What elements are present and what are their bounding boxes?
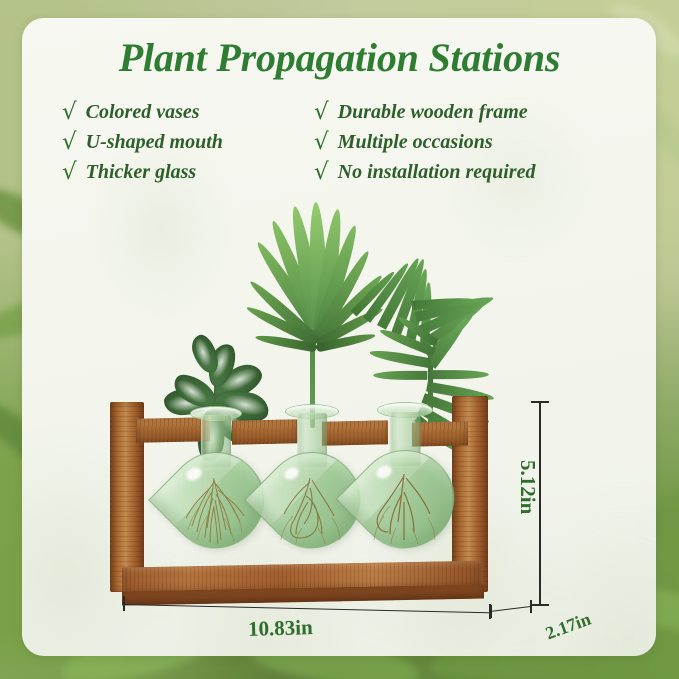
- check-icon: √: [314, 101, 329, 124]
- feature-label: Durable wooden frame: [338, 102, 528, 123]
- check-icon: √: [62, 131, 77, 154]
- feature-column-right: √ Durable wooden frame √ Multiple occasi…: [314, 100, 614, 183]
- dimension-tick-depth-left: [490, 605, 492, 618]
- plant-roots: [340, 402, 470, 574]
- check-icon: √: [314, 131, 329, 154]
- check-icon: √: [62, 161, 77, 184]
- glass-vase-3: [340, 402, 470, 574]
- palm-leaflet: [431, 370, 489, 379]
- dimension-label-width: 10.83in: [248, 615, 313, 642]
- check-icon: √: [314, 161, 329, 184]
- feature-label: U-shaped mouth: [86, 132, 223, 153]
- feature-item-u-shaped-mouth: √ U-shaped mouth: [62, 130, 290, 153]
- feature-label: No installation required: [338, 162, 536, 183]
- dimension-label-height: 5.12in: [515, 460, 540, 514]
- feature-label: Multiple occasions: [338, 132, 493, 153]
- feature-column-left: √ Colored vases √ U-shaped mouth √ Thick…: [62, 100, 290, 183]
- dimension-tick-height-bottom: [531, 604, 549, 606]
- dimension-tick-width-left: [123, 596, 125, 611]
- check-icon: √: [62, 101, 77, 124]
- feature-item-multiple-occasions: √ Multiple occasions: [314, 130, 614, 153]
- feature-item-colored-vases: √ Colored vases: [62, 100, 290, 123]
- feature-label: Colored vases: [86, 102, 200, 123]
- feature-item-no-installation-required: √ No installation required: [314, 160, 614, 183]
- dimension-tick-depth-right: [530, 600, 532, 613]
- feature-item-thicker-glass: √ Thicker glass: [62, 160, 290, 183]
- feature-label: Thicker glass: [86, 162, 197, 183]
- page-title: Plant Propagation Stations: [0, 34, 679, 81]
- feature-list: √ Colored vases √ U-shaped mouth √ Thick…: [62, 100, 622, 183]
- palm-frond: [430, 376, 431, 377]
- palm-leaflet: [373, 371, 427, 380]
- dimension-tick-height-top: [531, 401, 549, 403]
- feature-item-durable-wooden-frame: √ Durable wooden frame: [314, 100, 614, 123]
